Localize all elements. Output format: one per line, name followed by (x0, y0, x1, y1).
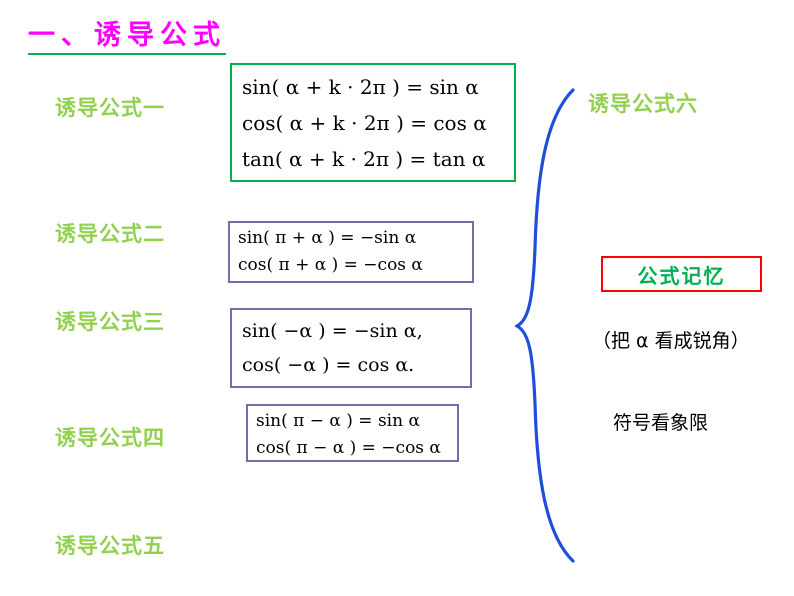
label-formula-4: 诱导公式四 (55, 422, 165, 452)
formula-box-1: sin( α + k · 2π ) = sin α cos( α + k · 2… (230, 63, 516, 182)
label-formula-6: 诱导公式六 (588, 88, 698, 118)
formula-line: cos( α + k · 2π ) = cos α (242, 105, 506, 141)
note-acute-angle: （把 α 看成锐角） (592, 326, 750, 353)
page-title: 一、诱导公式 (28, 20, 226, 55)
memory-box: 公式记忆 (601, 256, 762, 292)
slide-canvas: 一、诱导公式 诱导公式一 诱导公式二 诱导公式三 诱导公式四 诱导公式五 诱导公… (0, 0, 794, 596)
formula-line: cos( −α ) = cos α. (242, 348, 464, 382)
formula-line: sin( π − α ) = sin α (256, 408, 451, 435)
formula-box-4: sin( π − α ) = sin α cos( π − α ) = −cos… (246, 404, 459, 462)
formula-line: sin( α + k · 2π ) = sin α (242, 69, 506, 105)
formula-line: cos( π − α ) = −cos α (256, 435, 451, 462)
note-sign-quadrant: 符号看象限 (613, 408, 708, 435)
label-formula-5: 诱导公式五 (55, 530, 165, 560)
label-formula-1: 诱导公式一 (55, 92, 165, 122)
large-brace-decoration (515, 88, 585, 563)
memory-box-label: 公式记忆 (638, 260, 726, 289)
formula-line: tan( α + k · 2π ) = tan α (242, 141, 506, 177)
formula-line: sin( −α ) = −sin α, (242, 314, 464, 348)
label-formula-2: 诱导公式二 (55, 218, 165, 248)
formula-line: sin( π + α ) = −sin α (238, 225, 466, 252)
label-formula-3: 诱导公式三 (55, 306, 165, 336)
formula-box-2: sin( π + α ) = −sin α cos( π + α ) = −co… (228, 221, 474, 283)
formula-line: cos( π + α ) = −cos α (238, 252, 466, 279)
formula-box-3: sin( −α ) = −sin α, cos( −α ) = cos α. (230, 308, 472, 388)
